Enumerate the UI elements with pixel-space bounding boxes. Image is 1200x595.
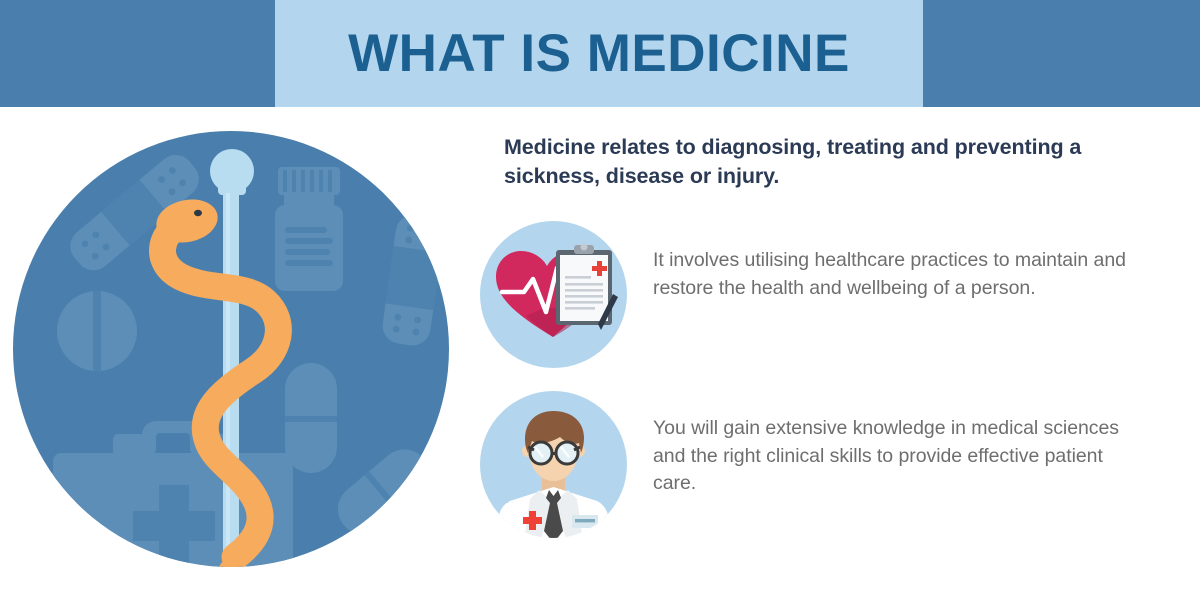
content-column: Medicine relates to diagnosing, treating… (478, 107, 1200, 595)
capsule-pill-icon (285, 363, 337, 473)
intro-paragraph: Medicine relates to diagnosing, treating… (504, 133, 1176, 190)
feature-text: You will gain extensive knowledge in med… (653, 415, 1143, 498)
header-bar: WHAT IS MEDICINE (0, 0, 1200, 107)
page-title: WHAT IS MEDICINE (275, 0, 923, 107)
hero-illustration (13, 131, 449, 567)
clipboard-shape (556, 244, 612, 326)
heart-clipboard-icon (480, 221, 627, 368)
feature-text: It involves utilising healthcare practic… (653, 247, 1143, 302)
tablet-pill-icon (57, 291, 137, 371)
name-tag (572, 515, 598, 528)
medicine-bottle-icon (275, 167, 343, 291)
doctor-avatar-icon (480, 391, 627, 538)
